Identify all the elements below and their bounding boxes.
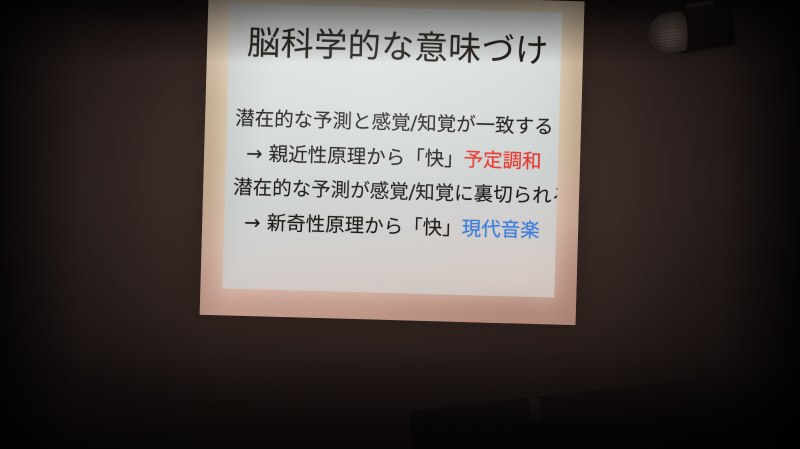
- speaker-mount-bracket: [686, 1, 715, 12]
- slide-line-3-text: 潜在的な予測が感覚/知覚に裏切られる: [233, 176, 562, 208]
- slide-line-3: 潜在的な予測が感覚/知覚に裏切られる: [233, 178, 553, 206]
- speaker-cone: [645, 10, 691, 56]
- slide-content: 脳科学的な意味づけ 潜在的な予測と感覚/知覚が一致する → 親近性原理から「快」…: [222, 3, 562, 297]
- slide-line-2-keyword: 予定調和: [463, 148, 542, 173]
- speaker-grille: [658, 27, 683, 48]
- slide-line-2-lead: → 親近性原理から「快」: [246, 141, 464, 170]
- slide-line-1-text: 潜在的な予測と感覚/知覚が一致する: [235, 107, 554, 139]
- slide-line-4: → 新奇性原理から「快」現代音楽: [232, 212, 552, 240]
- slide-line-1: 潜在的な予測と感覚/知覚が一致する: [235, 109, 555, 137]
- slide-title: 脳科学的な意味づけ: [247, 26, 549, 69]
- speaker-body: [672, 2, 736, 53]
- slide-line-4-lead: → 新奇性原理から「快」: [244, 210, 462, 239]
- floor-shadow-wedge: [409, 364, 800, 449]
- wall-switch-plate-icon: [529, 398, 541, 423]
- room-scene: 脳科学的な意味づけ 潜在的な予測と感覚/知覚が一致する → 親近性原理から「快」…: [0, 0, 800, 449]
- slide-body: 潜在的な予測と感覚/知覚が一致する → 親近性原理から「快」予定調和 潜在的な予…: [232, 109, 555, 241]
- projected-slide: 脳科学的な意味づけ 潜在的な予測と感覚/知覚が一致する → 親近性原理から「快」…: [222, 3, 562, 297]
- projection-screen: 脳科学的な意味づけ 潜在的な予測と感覚/知覚が一致する → 親近性原理から「快」…: [199, 0, 584, 331]
- slide-line-2: → 親近性原理から「快」予定調和: [234, 143, 554, 171]
- ceiling-speaker-icon: [642, 0, 746, 67]
- slide-line-4-keyword: 現代音楽: [461, 216, 540, 241]
